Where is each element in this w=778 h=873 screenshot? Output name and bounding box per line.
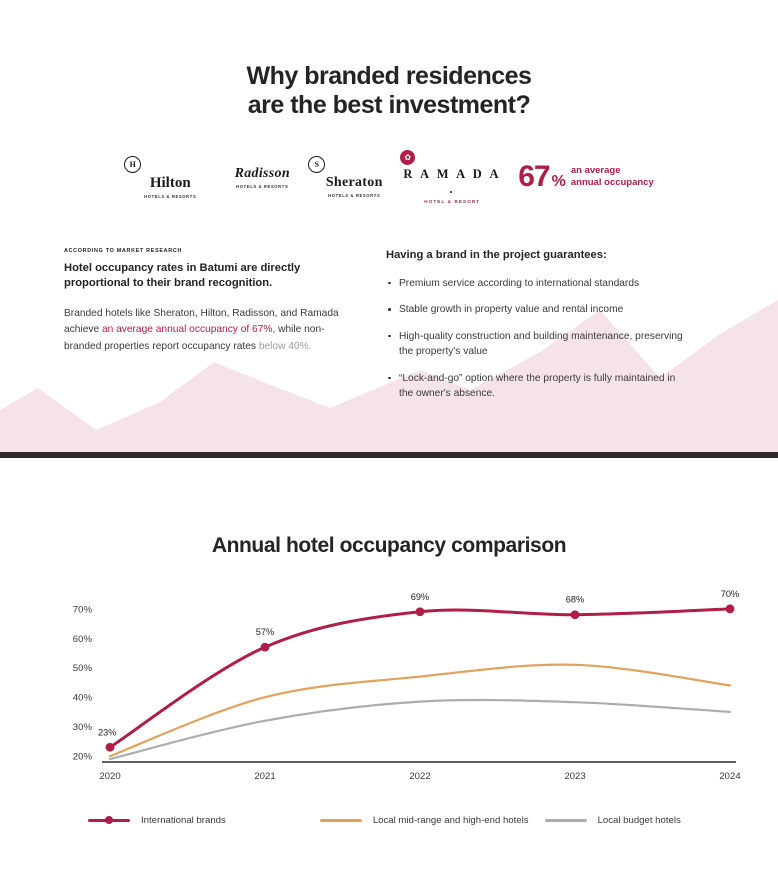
headline-line-1: Why branded residences [247, 62, 532, 90]
paragraph-highlight-crimson: an average annual occupancy of 67% [102, 324, 272, 335]
right-column-title: Having a brand in the project guarantees… [386, 248, 686, 263]
y-axis-tick-label: 50% [73, 663, 93, 674]
data-point-marker[interactable] [416, 607, 425, 616]
paragraph-highlight-grey: below 40%. [259, 341, 312, 352]
chart-title: Annual hotel occupancy comparison [0, 458, 778, 558]
stat-caption-line-2: annual occupancy [571, 177, 654, 188]
legend-swatch-line [88, 819, 130, 821]
logo-ramada-sub: HOTEL & RESORT [400, 199, 504, 204]
ramada-flame-icon: ✿ [400, 150, 504, 165]
right-column: Having a brand in the project guarantees… [386, 248, 686, 413]
legend-swatch-dot [105, 816, 113, 824]
hilton-crown-icon: H [124, 156, 216, 173]
y-axis-tick-label: 70% [73, 604, 93, 615]
logo-sheraton: S Sheraton HOTELS & RESORTS [308, 156, 400, 198]
legend-item-international-brands[interactable]: International brands [88, 815, 226, 826]
logo-ramada: ✿ R A M A D A . HOTEL & RESORT [400, 150, 504, 204]
y-axis-tick-label: 60% [73, 634, 93, 645]
y-axis-tick-label: 40% [73, 693, 93, 704]
x-axis-tick-label: 2020 [99, 771, 120, 782]
x-axis-tick-label: 2021 [254, 771, 275, 782]
two-column-body: ACCORDING TO MARKET RESEARCH Hotel occup… [0, 248, 778, 413]
section-divider [0, 452, 778, 458]
data-point-marker[interactable] [571, 610, 580, 619]
stat-number: 67 [518, 162, 549, 192]
list-item: Stable growth in property value and rent… [386, 302, 686, 318]
legend-item-local-budget[interactable]: Local budget hotels [545, 815, 681, 826]
legend-label: Local mid-range and high-end hotels [373, 815, 529, 826]
data-point-marker[interactable] [261, 643, 270, 652]
left-column-lede: Hotel occupancy rates in Batumi are dire… [64, 261, 346, 291]
logo-radisson-name: Radisson [216, 166, 308, 182]
logo-hilton-name: Hilton [124, 175, 216, 192]
data-point-label: 57% [256, 627, 274, 637]
logo-sheraton-sub: HOTELS & RESORTS [308, 193, 400, 198]
data-point-marker[interactable] [726, 604, 735, 613]
y-axis-tick-label: 20% [73, 752, 93, 763]
legend-item-local-mid-range[interactable]: Local mid-range and high-end hotels [320, 815, 529, 826]
x-axis-tick-label: 2022 [409, 771, 430, 782]
logo-hilton-sub: HOTELS & RESORTS [124, 194, 216, 199]
guarantee-list: Premium service according to internation… [386, 276, 686, 402]
logo-radisson: Radisson HOTELS & RESORTS [216, 166, 308, 189]
page-title: Why branded residences are the best inve… [0, 0, 778, 120]
chart-plot-area: 20%30%40%50%60%70%2020202120222023202423… [0, 582, 778, 797]
logo-hilton: H Hilton HOTELS & RESORTS [124, 156, 216, 199]
chart-section: Annual hotel occupancy comparison 20%30%… [0, 458, 778, 873]
data-point-label: 23% [98, 727, 116, 737]
logo-ramada-name: R A M A D A . [400, 167, 504, 197]
logo-radisson-sub: HOTELS & RESORTS [216, 184, 308, 189]
list-item: High-quality construction and building m… [386, 329, 686, 360]
legend-label: International brands [141, 815, 226, 826]
list-item: Premium service according to internation… [386, 276, 686, 292]
legend-swatch-line [320, 819, 362, 821]
data-point-label: 69% [411, 592, 429, 602]
logo-sheraton-name: Sheraton [308, 175, 400, 191]
hero-section: Why branded residences are the best inve… [0, 0, 778, 452]
data-point-label: 70% [721, 589, 739, 599]
series-line-2 [110, 700, 730, 759]
headline-line-2: are the best investment? [0, 91, 778, 120]
x-axis-tick-label: 2023 [564, 771, 585, 782]
series-line-1 [110, 665, 730, 756]
stat-percent-sign: % [552, 174, 566, 190]
left-column-paragraph: Branded hotels like Sheraton, Hilton, Ra… [64, 306, 346, 356]
stat-caption: an average annual occupancy [571, 165, 654, 188]
data-point-label: 68% [566, 595, 584, 605]
y-axis-tick-label: 30% [73, 722, 93, 733]
eyebrow-label: ACCORDING TO MARKET RESEARCH [64, 248, 346, 254]
line-chart: 20%30%40%50%60%70%2020202120222023202423… [0, 582, 778, 797]
data-point-marker[interactable] [106, 743, 115, 752]
occupancy-stat: 67 % an average annual occupancy [518, 162, 654, 192]
left-column: ACCORDING TO MARKET RESEARCH Hotel occup… [64, 248, 346, 413]
x-axis-tick-label: 2024 [719, 771, 741, 782]
list-item: “Lock-and-go” option where the property … [386, 371, 686, 402]
chart-legend: International brands Local mid-range and… [0, 815, 778, 826]
sheraton-s-circle-icon: S [308, 156, 400, 173]
brand-logo-row: H Hilton HOTELS & RESORTS Radisson HOTEL… [0, 150, 778, 204]
series-line-0 [110, 609, 730, 747]
legend-swatch-line [545, 819, 587, 821]
legend-label: Local budget hotels [598, 815, 681, 826]
stat-caption-line-1: an average [571, 165, 621, 176]
